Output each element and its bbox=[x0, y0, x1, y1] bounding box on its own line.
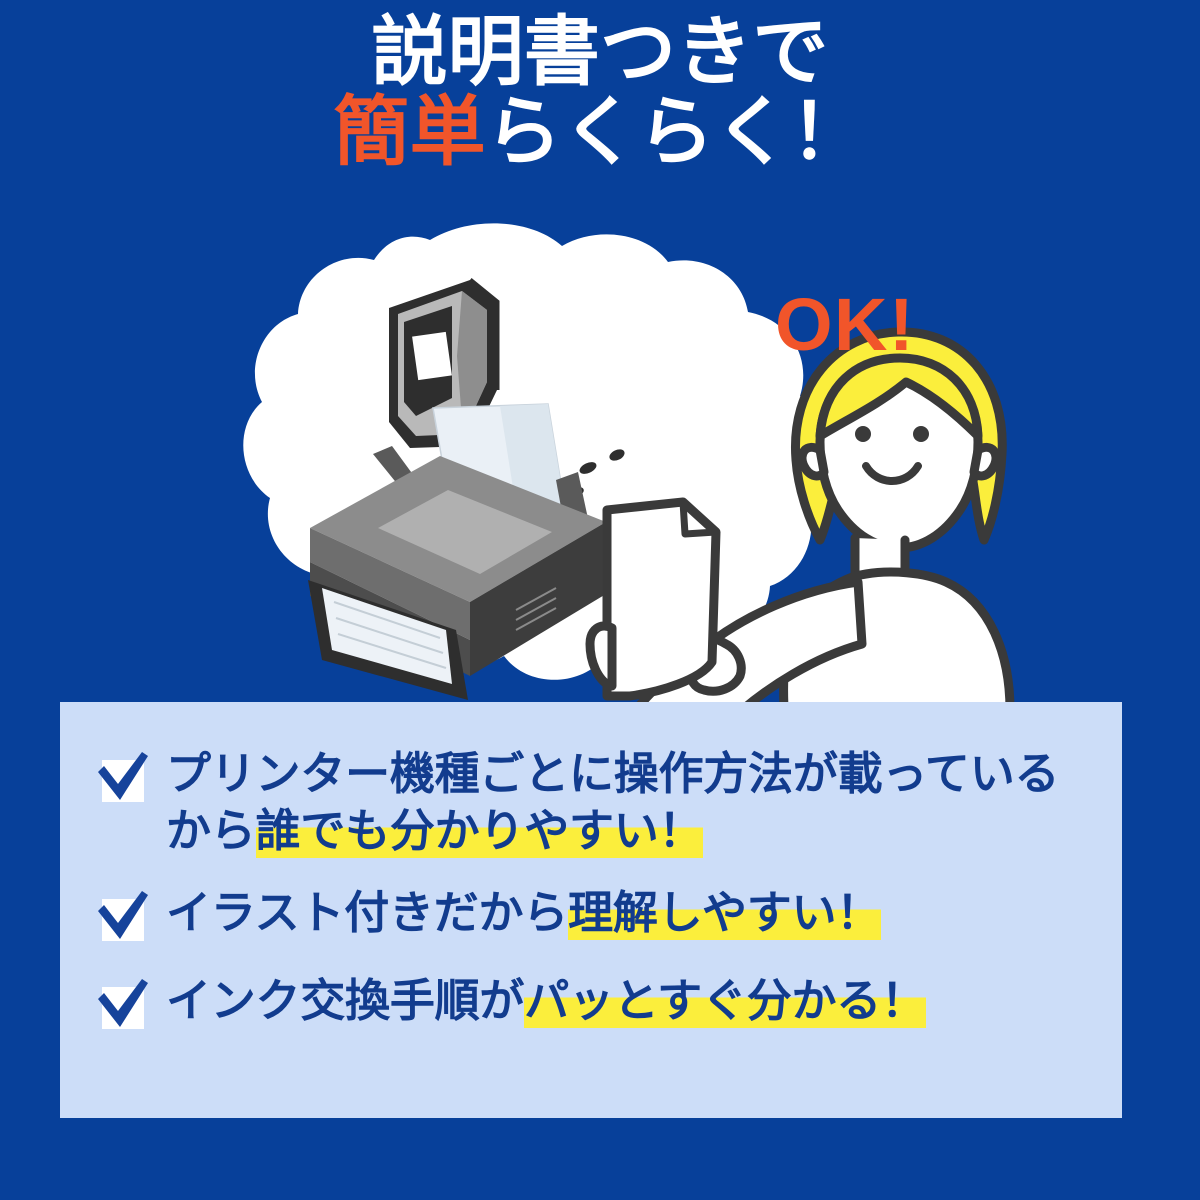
bullet-1-plain-1: プリンター機種ごとに操作方法が載って bbox=[166, 748, 970, 799]
list-item: イラスト付きだから理解しやすい！ bbox=[94, 885, 1088, 947]
check-mark-icon bbox=[94, 889, 152, 947]
check-mark-icon bbox=[94, 977, 152, 1035]
thought-bubble-small-1 bbox=[653, 404, 701, 452]
bullet-1-highlight: 誰でも分かりやすい！ bbox=[256, 805, 704, 858]
bullet-3-highlight: パッとすぐ分かる！ bbox=[524, 975, 926, 1028]
illustration bbox=[0, 210, 1200, 710]
check-mark-icon bbox=[94, 750, 152, 808]
eye-left bbox=[855, 426, 871, 442]
headline-line-2-rest: らくらく！ bbox=[486, 90, 867, 175]
headline: 説明書つきで 簡単らくらく！ bbox=[0, 16, 1200, 169]
bullet-2-plain-1: イラスト付きだから bbox=[166, 887, 568, 938]
list-item-text: プリンター機種ごとに操作方法が載っているから誰でも分かりやすい！ bbox=[166, 746, 1088, 859]
bullet-2-highlight: 理解しやすい！ bbox=[568, 887, 881, 940]
eye-right bbox=[913, 426, 929, 442]
ok-label: OK! bbox=[775, 288, 915, 362]
list-item: インク交換手順がパッとすぐ分かる！ bbox=[94, 973, 1088, 1035]
list-item-text: イラスト付きだから理解しやすい！ bbox=[166, 885, 1088, 942]
thought-bubble-small-2 bbox=[731, 427, 773, 469]
headline-line-1: 説明書つきで bbox=[0, 16, 1200, 90]
bullet-3-plain-1: インク交換手順が bbox=[166, 975, 524, 1026]
benefits-panel: プリンター機種ごとに操作方法が載っているから誰でも分かりやすい！ イラスト付きだ… bbox=[60, 702, 1122, 1118]
headline-emphasis: 簡単 bbox=[333, 90, 485, 175]
list-item: プリンター機種ごとに操作方法が載っているから誰でも分かりやすい！ bbox=[94, 746, 1088, 859]
list-item-text: インク交換手順がパッとすぐ分かる！ bbox=[166, 973, 1088, 1030]
headline-line-2: 簡単らくらく！ bbox=[0, 96, 1200, 170]
advertisement-canvas: 説明書つきで 簡単らくらく！ bbox=[0, 0, 1200, 1200]
